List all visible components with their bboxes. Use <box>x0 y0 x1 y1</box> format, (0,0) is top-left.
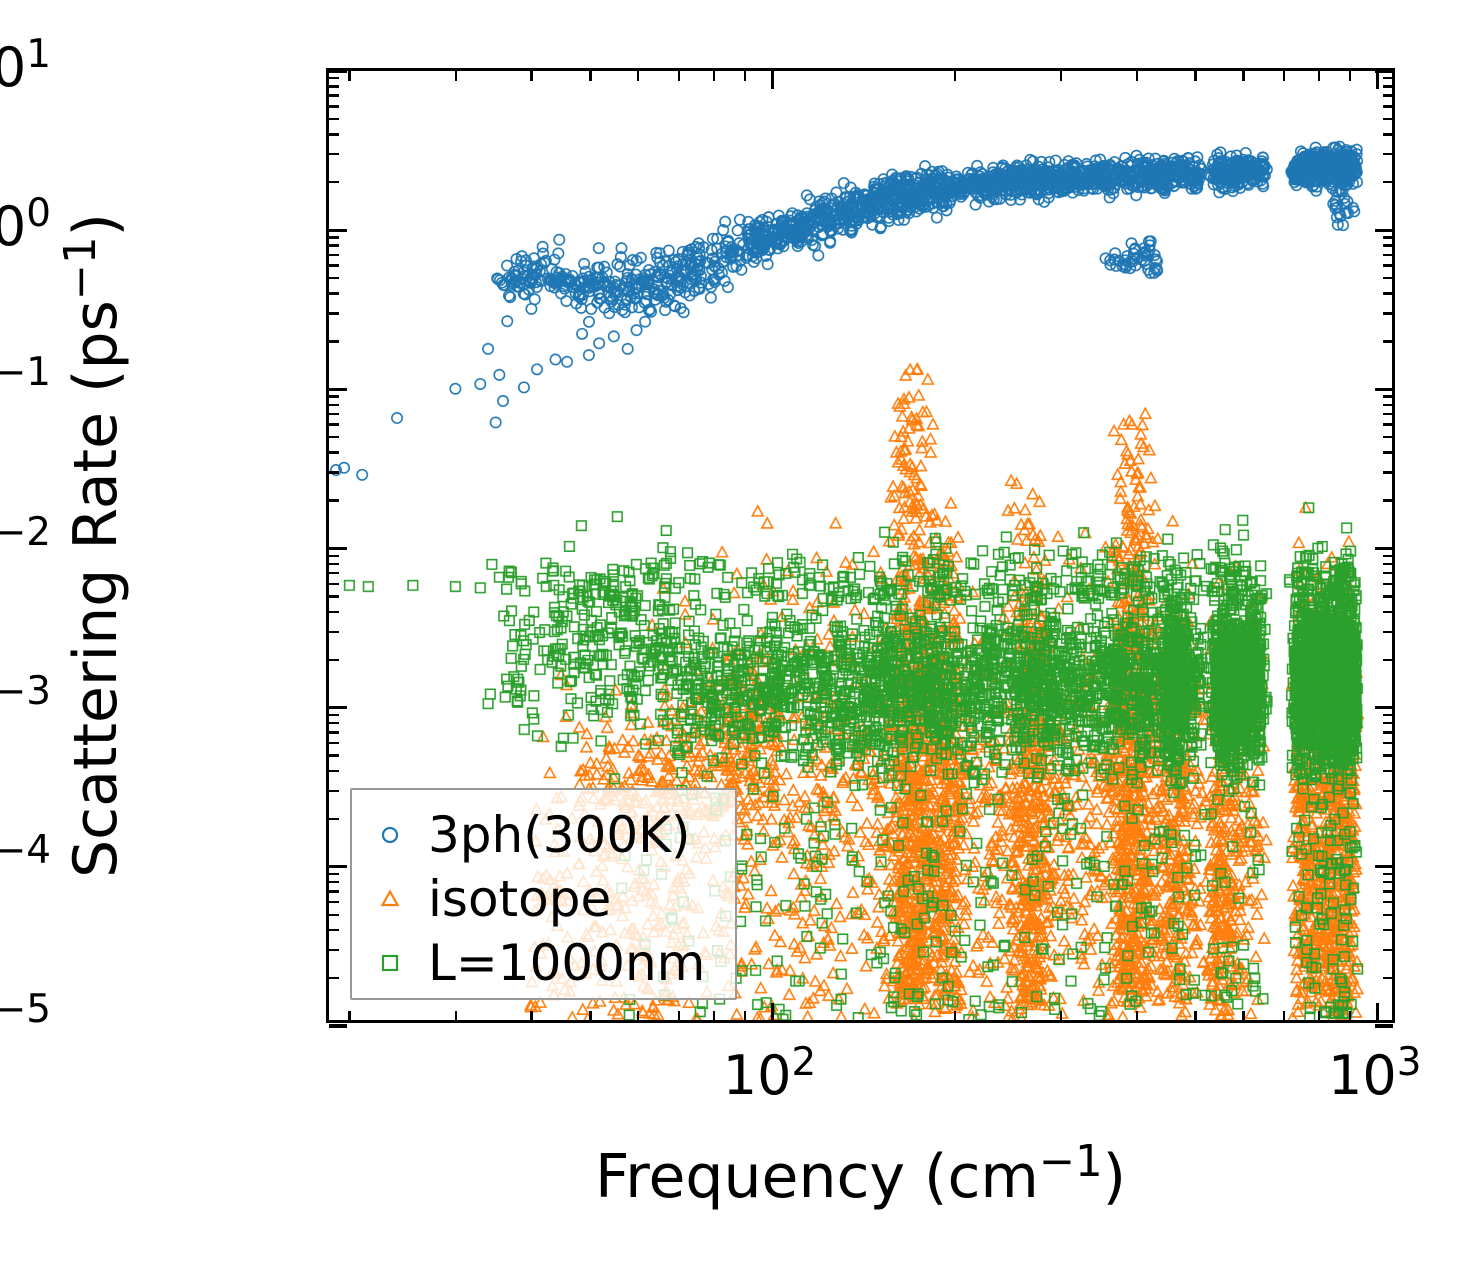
x-tick-minor-top <box>1242 71 1244 81</box>
y-tick-minor <box>329 901 339 903</box>
y-tick-minor <box>329 85 339 87</box>
y-tick-minor <box>329 914 339 916</box>
y-tick-minor-right <box>1383 659 1393 661</box>
y-tick-minor <box>329 722 339 724</box>
x-tick-major-top <box>771 71 774 89</box>
legend-item-circle[interactable]: 3ph(300K) <box>352 800 735 870</box>
y-tick-minor-right <box>1383 722 1393 724</box>
x-tick-mantissa: 10 <box>1328 1044 1397 1107</box>
y-tick-exponent: −5 <box>0 987 51 1032</box>
y-tick-minor-right <box>1383 929 1393 931</box>
y-tick-major-right <box>1375 865 1393 868</box>
y-tick-minor-right <box>1383 244 1393 246</box>
legend-label: isotope <box>428 870 611 928</box>
y-tick-minor-right <box>1383 451 1393 453</box>
y-tick-label: 10−1 <box>0 359 51 413</box>
y-tick-exponent: 1 <box>26 32 51 77</box>
x-tick-minor <box>713 1011 715 1021</box>
y-tick-minor <box>329 118 339 120</box>
y-tick-minor-right <box>1383 236 1393 238</box>
y-tick-minor-right <box>1383 118 1393 120</box>
y-tick-minor-right <box>1383 631 1393 633</box>
y-tick-minor <box>329 818 339 820</box>
y-tick-minor-right <box>1383 914 1393 916</box>
scatter-figure: Scattering Rate (ps−1) Frequency (cm−1) … <box>0 0 1463 1275</box>
y-tick-minor-right <box>1383 563 1393 565</box>
y-tick-minor <box>329 881 339 883</box>
y-tick-minor-right <box>1383 395 1393 397</box>
y-tick-minor <box>329 94 339 96</box>
y-tick-minor-right <box>1383 818 1393 820</box>
x-tick-minor-top <box>589 71 591 81</box>
y-tick-minor <box>329 264 339 266</box>
x-tick-minor <box>348 1011 350 1021</box>
x-tick-major <box>1376 1003 1379 1021</box>
y-tick-minor <box>329 395 339 397</box>
y-tick-minor <box>329 714 339 716</box>
y-tick-minor-right <box>1383 731 1393 733</box>
y-tick-minor <box>329 153 339 155</box>
y-tick-major-right <box>1375 229 1393 232</box>
y-tick-minor <box>329 244 339 246</box>
y-tick-exponent: 0 <box>26 191 51 236</box>
y-tick-minor <box>329 404 339 406</box>
y-tick-minor-right <box>1383 423 1393 425</box>
y-tick-minor-right <box>1383 264 1393 266</box>
y-tick-minor <box>329 583 339 585</box>
y-tick-minor <box>329 572 339 574</box>
y-tick-minor <box>329 595 339 597</box>
y-tick-minor-right <box>1383 133 1393 135</box>
y-tick-minor-right <box>1383 292 1393 294</box>
x-tick-minor-top <box>1349 71 1351 81</box>
x-tick-exponent: 2 <box>792 1040 817 1085</box>
y-tick-minor-right <box>1383 77 1393 79</box>
y-tick-minor <box>329 292 339 294</box>
x-tick-major-top <box>1376 71 1379 89</box>
y-tick-major <box>329 547 347 550</box>
x-tick-minor-top <box>637 71 639 81</box>
y-tick-minor <box>329 236 339 238</box>
x-tick-minor <box>455 1011 457 1021</box>
y-tick-minor-right <box>1383 790 1393 792</box>
y-tick-major-right <box>1375 547 1393 550</box>
x-axis-label: Frequency (cm−1) <box>326 1142 1395 1212</box>
x-tick-minor-top <box>1194 71 1196 81</box>
y-tick-minor <box>329 413 339 415</box>
y-tick-minor-right <box>1383 742 1393 744</box>
y-tick-minor-right <box>1383 901 1393 903</box>
y-tick-minor-right <box>1383 949 1393 951</box>
y-tick-minor <box>329 181 339 183</box>
x-tick-minor <box>530 1011 532 1021</box>
y-tick-major <box>329 229 347 232</box>
y-tick-major <box>329 706 347 709</box>
x-tick-minor-top <box>1060 71 1062 81</box>
y-tick-minor-right <box>1383 881 1393 883</box>
y-tick-major <box>329 388 347 391</box>
y-tick-minor-right <box>1383 499 1393 501</box>
y-tick-minor <box>329 133 339 135</box>
x-tick-exponent: 3 <box>1397 1040 1422 1085</box>
y-tick-minor <box>329 742 339 744</box>
y-tick-minor <box>329 555 339 557</box>
y-tick-major <box>329 865 347 868</box>
y-axis-label: Scattering Rate (ps−1) <box>60 68 132 1023</box>
y-tick-minor-right <box>1383 254 1393 256</box>
y-tick-minor <box>329 254 339 256</box>
y-tick-minor <box>329 977 339 979</box>
legend[interactable]: 3ph(300K)isotopeL=1000nm <box>350 788 737 1000</box>
triangle-marker-icon <box>352 888 428 910</box>
square-marker-icon <box>352 952 428 974</box>
y-tick-minor <box>329 105 339 107</box>
y-tick-exponent: −1 <box>0 350 51 395</box>
y-tick-major-right <box>1375 1024 1393 1027</box>
y-tick-minor <box>329 631 339 633</box>
y-tick-major-right <box>1375 388 1393 391</box>
y-tick-minor <box>329 890 339 892</box>
y-tick-label: 10−4 <box>0 837 51 891</box>
y-tick-minor-right <box>1383 312 1393 314</box>
y-tick-label: 100 <box>0 200 51 254</box>
y-tick-minor-right <box>1383 977 1393 979</box>
y-tick-minor-right <box>1383 754 1393 756</box>
y-tick-mantissa: 10 <box>0 36 26 99</box>
x-tick-minor-top <box>713 71 715 81</box>
y-tick-minor <box>329 563 339 565</box>
y-tick-minor-right <box>1383 890 1393 892</box>
y-tick-minor-right <box>1383 873 1393 875</box>
legend-item-triangle[interactable]: isotope <box>352 864 735 934</box>
y-tick-minor <box>329 451 339 453</box>
y-tick-minor-right <box>1383 583 1393 585</box>
x-tick-minor-top <box>530 71 532 81</box>
x-tick-minor-top <box>744 71 746 81</box>
x-tick-minor <box>1242 1011 1244 1021</box>
circle-marker-icon <box>352 824 428 846</box>
y-tick-minor <box>329 277 339 279</box>
y-tick-minor-right <box>1383 611 1393 613</box>
y-tick-minor <box>329 499 339 501</box>
y-tick-minor-right <box>1383 85 1393 87</box>
y-tick-minor <box>329 611 339 613</box>
x-tick-minor-top <box>954 71 956 81</box>
y-tick-minor-right <box>1383 153 1393 155</box>
y-tick-minor <box>329 436 339 438</box>
x-tick-label: 102 <box>723 1049 816 1103</box>
y-tick-label: 10−3 <box>0 678 51 732</box>
y-tick-minor <box>329 731 339 733</box>
x-tick-minor <box>744 1011 746 1021</box>
x-tick-minor <box>954 1011 956 1021</box>
x-tick-minor-top <box>455 71 457 81</box>
x-tick-major <box>771 1003 774 1021</box>
x-tick-minor <box>1194 1011 1196 1021</box>
legend-label: L=1000nm <box>428 934 705 992</box>
y-tick-minor-right <box>1383 181 1393 183</box>
x-tick-minor-top <box>1283 71 1285 81</box>
y-tick-minor <box>329 929 339 931</box>
x-tick-minor <box>1283 1011 1285 1021</box>
y-tick-minor <box>329 423 339 425</box>
y-tick-minor <box>329 312 339 314</box>
y-tick-minor-right <box>1383 413 1393 415</box>
y-tick-minor <box>329 754 339 756</box>
x-tick-minor <box>1349 1011 1351 1021</box>
x-tick-minor-top <box>678 71 680 81</box>
y-tick-major-right <box>1375 706 1393 709</box>
x-tick-minor-top <box>348 71 350 81</box>
y-tick-label: 101 <box>0 41 51 95</box>
y-tick-major <box>329 69 347 72</box>
y-tick-minor-right <box>1383 471 1393 473</box>
x-tick-minor <box>637 1011 639 1021</box>
y-tick-minor <box>329 77 339 79</box>
y-tick-minor <box>329 770 339 772</box>
y-tick-minor-right <box>1383 572 1393 574</box>
y-tick-minor-right <box>1383 340 1393 342</box>
y-tick-minor-right <box>1383 105 1393 107</box>
y-tick-exponent: −2 <box>0 510 51 555</box>
x-tick-minor <box>1060 1011 1062 1021</box>
y-tick-label: 10−2 <box>0 519 51 573</box>
y-tick-minor-right <box>1383 555 1393 557</box>
y-tick-minor <box>329 873 339 875</box>
x-tick-minor <box>589 1011 591 1021</box>
y-tick-major <box>329 1024 347 1027</box>
y-tick-minor-right <box>1383 714 1393 716</box>
y-tick-label: 10−5 <box>0 996 51 1050</box>
x-tick-minor-top <box>1136 71 1138 81</box>
y-tick-mantissa: 10 <box>0 195 26 258</box>
y-tick-exponent: −3 <box>0 669 51 714</box>
y-tick-minor <box>329 949 339 951</box>
y-tick-minor-right <box>1383 436 1393 438</box>
legend-label: 3ph(300K) <box>428 806 690 864</box>
y-tick-minor-right <box>1383 770 1393 772</box>
y-tick-minor-right <box>1383 94 1393 96</box>
y-tick-exponent: −4 <box>0 828 51 873</box>
y-tick-minor-right <box>1383 277 1393 279</box>
x-tick-minor <box>1318 1011 1320 1021</box>
x-tick-minor <box>1136 1011 1138 1021</box>
x-tick-label: 103 <box>1328 1049 1421 1103</box>
y-tick-minor-right <box>1383 595 1393 597</box>
x-tick-minor <box>678 1011 680 1021</box>
y-tick-minor <box>329 790 339 792</box>
legend-item-square[interactable]: L=1000nm <box>352 928 735 998</box>
x-tick-mantissa: 10 <box>723 1044 792 1107</box>
y-tick-minor-right <box>1383 404 1393 406</box>
y-tick-minor <box>329 659 339 661</box>
y-tick-minor <box>329 340 339 342</box>
x-tick-minor-top <box>1318 71 1320 81</box>
y-tick-minor <box>329 471 339 473</box>
